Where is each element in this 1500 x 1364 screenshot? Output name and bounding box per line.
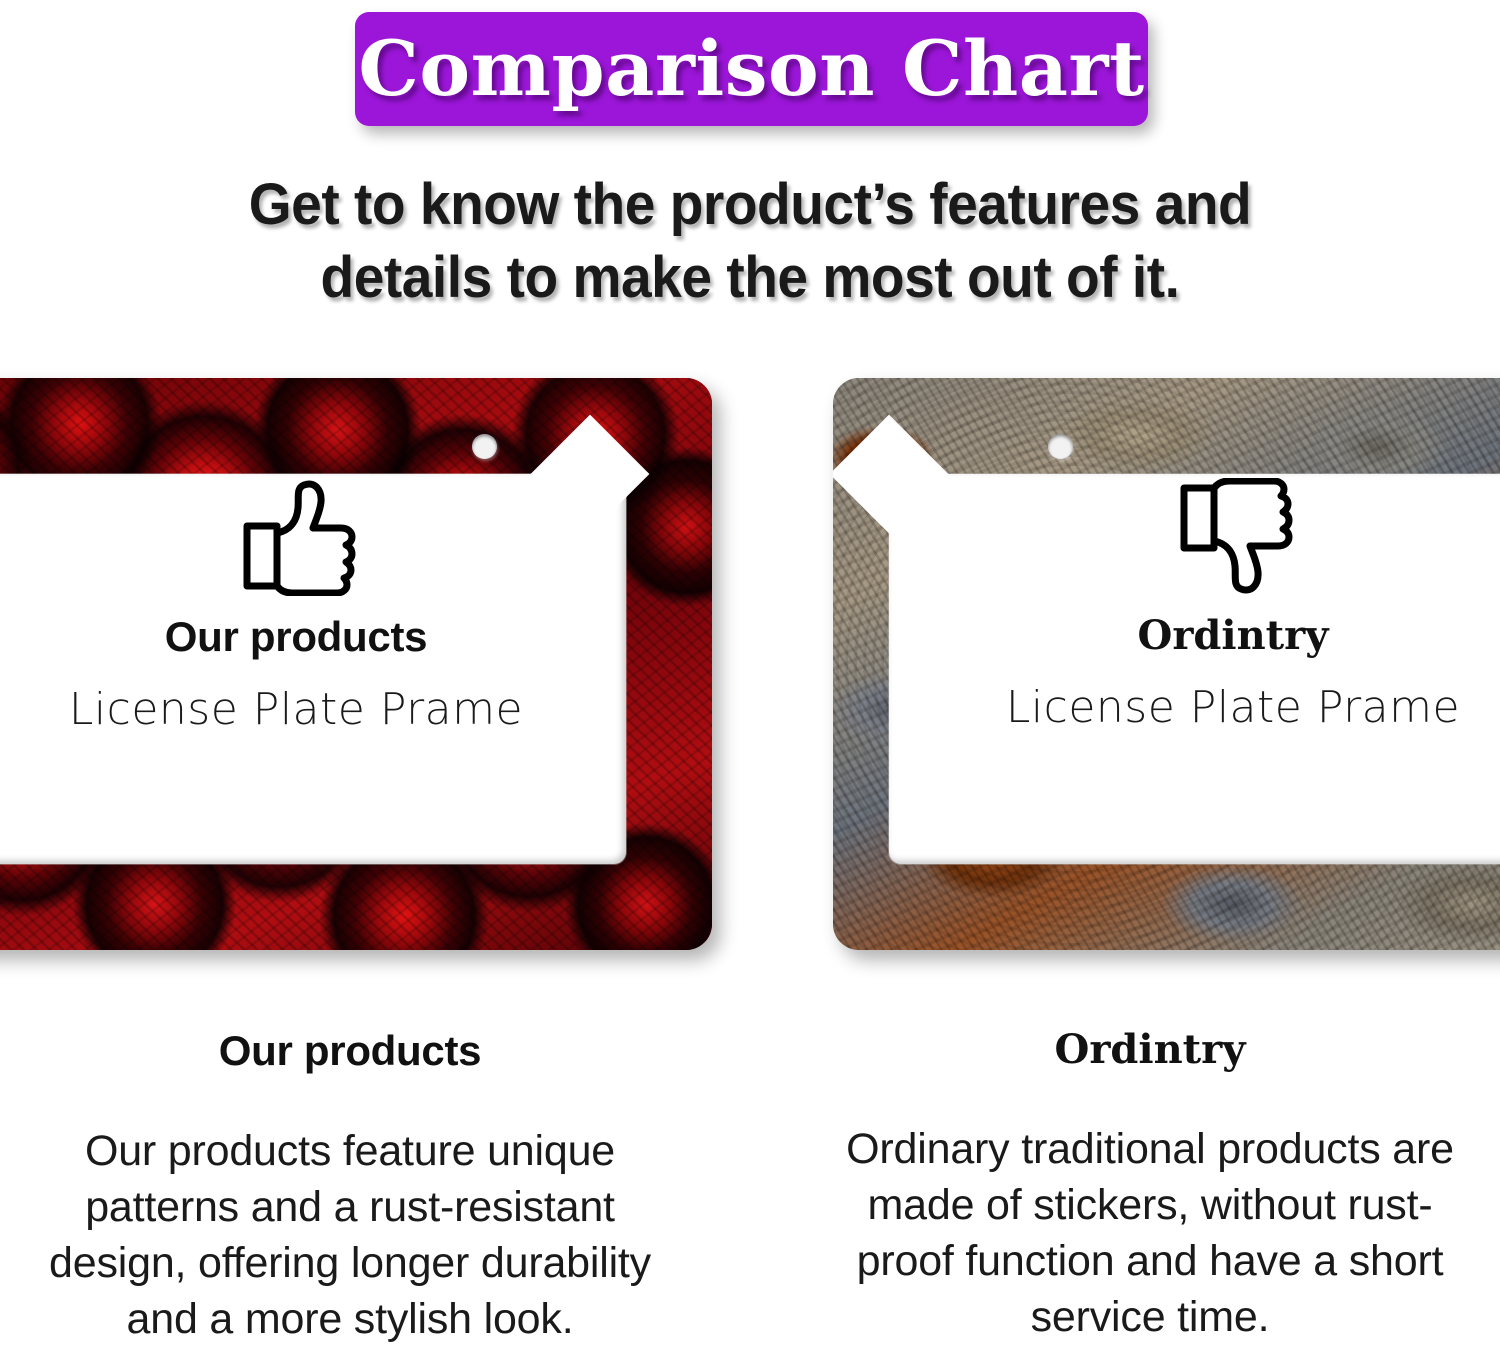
right-column-heading: Ordintry xyxy=(800,1030,1500,1070)
left-plate-subheading: License Plate Prame xyxy=(0,688,712,732)
left-description-column: Our products Our products feature unique… xyxy=(0,1030,700,1348)
subtitle-line-2: details to make the most out of it. xyxy=(38,241,1463,314)
left-plate-mount-hole xyxy=(472,434,497,459)
thumbs-up-icon xyxy=(236,478,356,596)
right-column-body: Ordinary traditional products are made o… xyxy=(800,1122,1500,1346)
left-plate-heading: Our products xyxy=(0,616,712,658)
subtitle-line-1: Get to know the product’s features and xyxy=(38,168,1463,241)
left-column-heading: Our products xyxy=(0,1030,700,1072)
left-column-body: Our products feature unique patterns and… xyxy=(0,1124,700,1348)
right-plate-mount-hole xyxy=(1048,434,1073,459)
subtitle: Get to know the product’s features and d… xyxy=(38,168,1463,314)
left-plate-content: Our products License Plate Prame xyxy=(0,478,712,732)
right-plate-content: Ordintry License Plate Prame xyxy=(833,478,1500,730)
right-plate-heading: Ordintry xyxy=(833,616,1500,656)
right-plate-subheading: License Plate Prame xyxy=(833,686,1500,730)
thumbs-down-icon xyxy=(1173,478,1293,596)
comparison-chart-title-banner: Comparison Chart xyxy=(355,12,1148,126)
page-title: Comparison Chart xyxy=(358,31,1144,107)
right-description-column: Ordintry Ordinary traditional products a… xyxy=(800,1030,1500,1346)
